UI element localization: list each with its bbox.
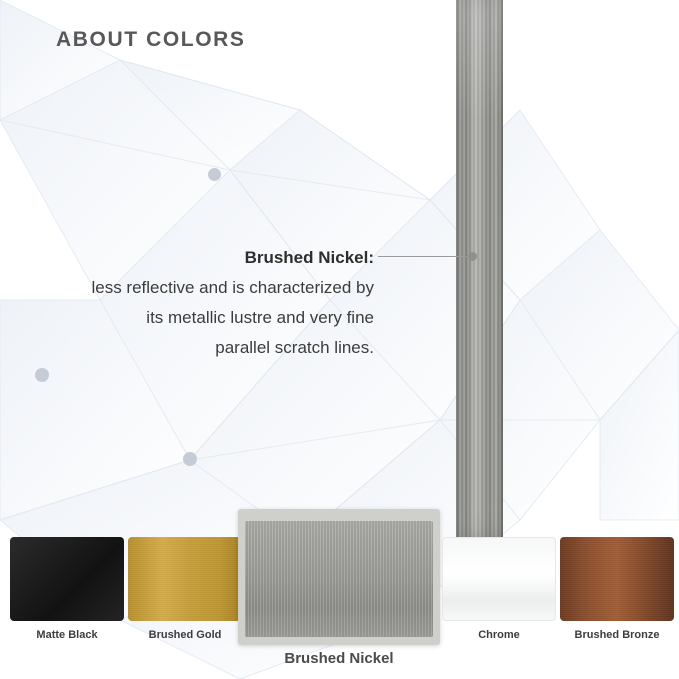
swatch-chrome[interactable]	[442, 537, 556, 621]
callout-dot	[468, 252, 477, 261]
strip-highlight	[456, 0, 503, 120]
about-colors-panel: ABOUT COLORS Brushed Nickel: less reflec…	[0, 0, 679, 679]
decor-dot-3	[183, 452, 197, 466]
callout-lead: Brushed Nickel:	[245, 248, 374, 267]
swatch-label-brushed-nickel: Brushed Nickel	[264, 650, 414, 667]
brushed-nickel-strip	[456, 0, 503, 538]
swatch-label-brushed-bronze: Brushed Bronze	[542, 629, 679, 641]
callout-line-3: parallel scratch lines.	[48, 333, 374, 363]
swatch-row: Matte Black Brushed Gold Brushed Nickel …	[0, 539, 679, 679]
swatch-brushed-gold[interactable]	[128, 537, 242, 621]
callout-text: Brushed Nickel: less reflective and is c…	[48, 243, 374, 363]
page-title: ABOUT COLORS	[56, 28, 246, 52]
swatch-brushed-nickel[interactable]	[245, 521, 433, 637]
callout-leader-line	[378, 256, 470, 257]
callout-line-2: its metallic lustre and very fine	[48, 303, 374, 333]
callout-line-1: less reflective and is characterized by	[48, 273, 374, 303]
swatch-matte-black[interactable]	[10, 537, 124, 621]
decor-dot-2	[35, 368, 49, 382]
decor-dot-1	[208, 168, 221, 181]
swatch-brushed-bronze[interactable]	[560, 537, 674, 621]
